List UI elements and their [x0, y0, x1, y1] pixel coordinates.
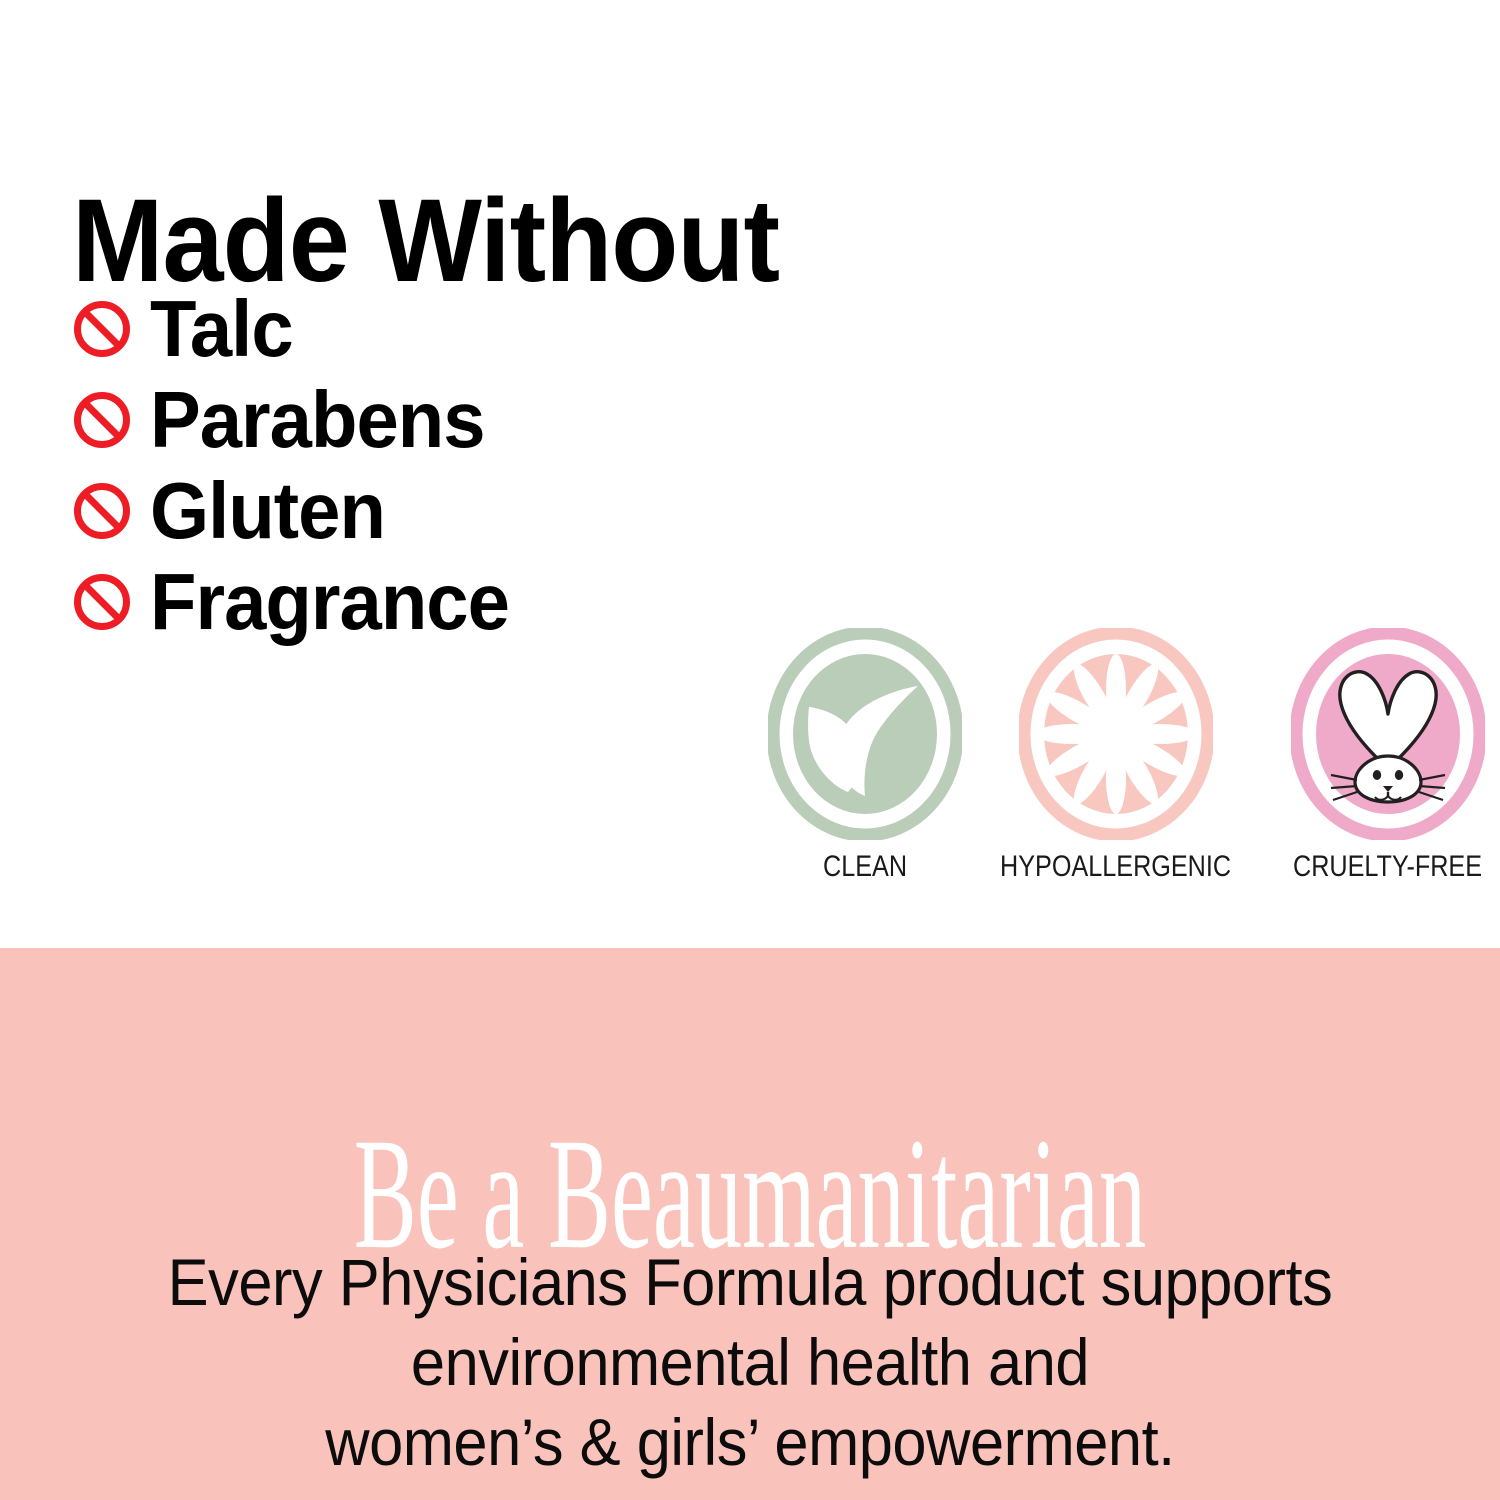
exclusion-label: Parabens [150, 380, 485, 460]
badge-caption: HYPOALLERGENIC [1000, 850, 1231, 884]
badge-caption: CLEAN [823, 850, 907, 884]
badge-caption: CRUELTY-FREE [1293, 850, 1482, 884]
list-item: Parabens [72, 374, 528, 465]
flower-icon [1019, 628, 1213, 840]
badge-cruelty-free: CRUELTY-FREE [1275, 628, 1500, 884]
exclusion-label: Gluten [150, 471, 385, 551]
paragraph-line: environmental health and [53, 1322, 1448, 1402]
product-claims-panel: Made Without Talc Parab [0, 0, 1500, 1500]
bunny-icon [1291, 628, 1485, 840]
list-item: Gluten [72, 465, 528, 556]
no-entry-icon [72, 299, 132, 359]
paragraph-line: women’s & girls’ empowerment. [53, 1402, 1448, 1482]
exclusion-list: Talc Parabens Gluten [72, 283, 528, 647]
leaf-icon [768, 628, 962, 840]
beaumanitarian-paragraph: Every Physicians Formula product support… [53, 1242, 1448, 1482]
list-item: Talc [72, 283, 528, 374]
no-entry-icon [72, 390, 132, 450]
certification-badges: CLEAN [768, 628, 1448, 884]
paragraph-line: Every Physicians Formula product support… [53, 1242, 1448, 1322]
badge-clean: CLEAN [768, 628, 962, 884]
made-without-section: Made Without Talc Parab [0, 0, 1500, 948]
badge-hypoallergenic: HYPOALLERGENIC [978, 628, 1253, 884]
no-entry-icon [72, 572, 132, 632]
no-entry-icon [72, 481, 132, 541]
exclusion-label: Talc [150, 289, 293, 369]
exclusion-label: Fragrance [150, 562, 509, 642]
list-item: Fragrance [72, 556, 528, 647]
